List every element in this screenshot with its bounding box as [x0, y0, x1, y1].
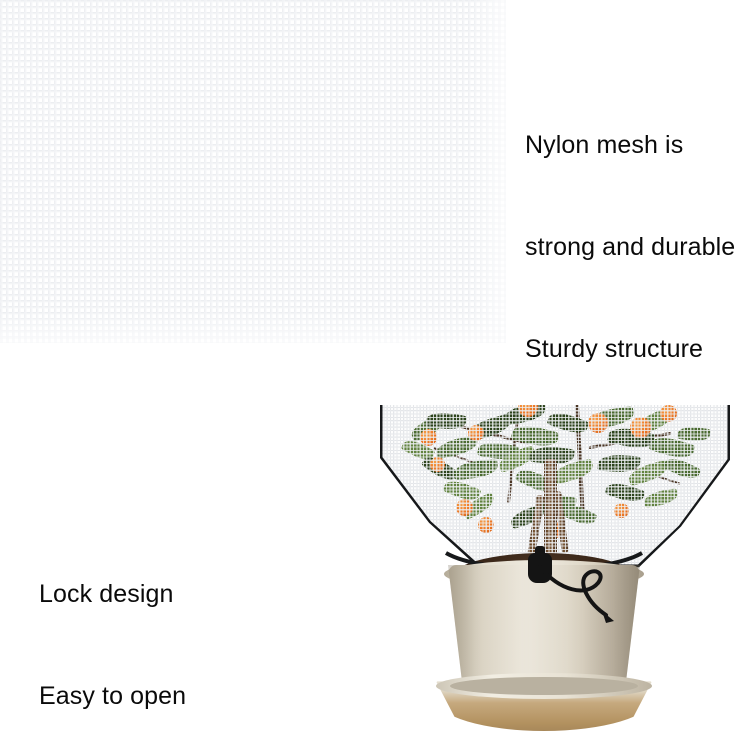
mesh-bottom-fade [0, 312, 510, 348]
orange-fruit [630, 417, 651, 438]
orange-fruit [588, 413, 608, 433]
citrus-foliage [392, 405, 714, 559]
product-photo [352, 405, 750, 750]
drawstring-cord [502, 543, 642, 643]
feature-line: Sturdy structure [525, 332, 735, 366]
orange-fruit [614, 503, 629, 518]
mesh-right-fade [470, 0, 510, 343]
nylon-mesh-swatch [0, 0, 506, 343]
orange-fruit [478, 517, 494, 533]
pot-saucer-inner [450, 677, 638, 695]
feature-line: Nylon mesh is [525, 128, 735, 162]
orange-fruit [430, 457, 445, 472]
orange-fruit [420, 429, 437, 446]
product-image-canvas: Nylon mesh is strong and durable Sturdy … [0, 0, 750, 750]
feature-line: strong and durable [525, 230, 735, 264]
feature-text-bottom-left: Lock design Easy to open Effectively pro… [39, 509, 312, 750]
feature-line: Lock design [39, 577, 312, 611]
orange-fruit [468, 425, 484, 441]
orange-fruit [660, 405, 677, 422]
feature-line: Easy to open [39, 679, 312, 713]
orange-fruit [456, 499, 473, 516]
